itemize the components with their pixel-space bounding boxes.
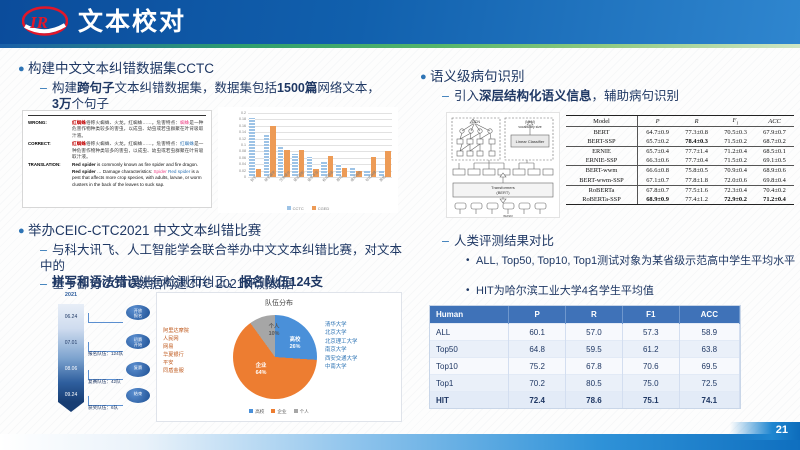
bullet-dot-icon: • (466, 283, 476, 298)
pie-legend-item: 个人 (294, 409, 309, 415)
cell-model: ERNIE-SSP (566, 156, 637, 166)
cell-f1: 57.3 (622, 324, 679, 341)
table-row: Top5064.859.561.263.8 (430, 341, 740, 358)
page-number-background (730, 422, 800, 440)
table-row: RoBERTa-SSP68.9±0.977.4±1.272.9±0.271.2±… (566, 195, 794, 205)
col-r: R (677, 116, 716, 127)
cell-r: 77.4±1.2 (677, 195, 716, 205)
cell-r: 77.7±0.4 (677, 156, 716, 166)
cell-acc: 58.9 (679, 324, 739, 341)
table-row: ALL60.157.057.358.9 (430, 324, 740, 341)
bar-group (349, 113, 362, 177)
svg-text:GCN: GCN (472, 120, 480, 124)
cell-p: 72.4 (509, 392, 566, 409)
table-row: BERT64.7±0.977.3±0.870.5±0.367.9±0.7 (566, 127, 794, 137)
col-f1: F1 (716, 116, 755, 127)
cell-f1: 72.3±0.4 (716, 185, 755, 195)
cell-f1: 72.0±0.6 (716, 175, 755, 185)
cell-model: BERT (566, 127, 637, 137)
table-row: BERT-wwm66.6±0.875.8±0.570.9±0.468.9±0.6 (566, 166, 794, 176)
col-acc: ACC (679, 306, 739, 324)
bar-chart-legend-item: CCTC (287, 206, 304, 211)
cell-acc: 68.7±0.2 (755, 137, 794, 147)
example-row-wrong: WRONG: 红蜘蛛俗称火蜘蛛、火龙。红蜘蛛……。危害特点：蜘蛛是一种危害作物种… (23, 120, 211, 141)
slide-root: IR 文本校对 ●构建中文文本纠错数据集CCTC –构建跨句子文本纠错数据集，数… (0, 0, 800, 450)
cell-acc: 68.9±0.6 (755, 166, 794, 176)
bar-cctc (264, 135, 269, 177)
pie-chart-title: 队伍分布 (157, 298, 401, 308)
dash-icon: – (40, 242, 52, 258)
svg-text:[MASK]: [MASK] (503, 214, 513, 217)
bar-chart-ytick: 0.18 (218, 117, 246, 121)
dash-icon: – (40, 276, 52, 292)
bar-group (278, 113, 291, 177)
cell-p: 70.2 (509, 375, 566, 392)
bullet-semantic-error-detection: ●语义级病句识别 (420, 68, 790, 86)
timeline-node-0: 开放报名 (126, 305, 150, 320)
timeline-node-2: 复赛 (126, 362, 150, 377)
page-title: 文本校对 (78, 6, 186, 38)
cell-p: 66.6±0.8 (637, 166, 677, 176)
cell-f1: 71.2±0.4 (716, 146, 755, 156)
col-f1: F1 (622, 306, 679, 324)
cell-p: 67.8±0.7 (637, 185, 677, 195)
cell-p: 68.9±0.9 (637, 195, 677, 205)
cell-r: 57.0 (566, 324, 623, 341)
cell-acc: 68.5±0.1 (755, 146, 794, 156)
cell-f1: 75.1 (622, 392, 679, 409)
table-row: Top1075.267.870.669.5 (430, 358, 740, 375)
cell-name: Top1 (430, 375, 509, 392)
timeline-year: 2021 (58, 292, 84, 298)
cell-acc: 69.1±0.5 (755, 156, 794, 166)
item-human-test-subjects: •ALL, Top50, Top10, Top1测试对象为某省级示范高中学生平均… (466, 253, 796, 269)
bar-chart-legend-item: CGED (312, 206, 330, 211)
bar-chart-bars (248, 113, 392, 177)
bar-cctc (249, 118, 254, 177)
cell-model: ERNIE (566, 146, 637, 156)
cell-r: 77.7±1.4 (677, 146, 716, 156)
cell-p: 67.1±0.7 (637, 175, 677, 185)
item-hit-students: •HIT为哈尔滨工业大学4名学生平均值 (466, 283, 796, 299)
cell-acc: 74.1 (679, 392, 739, 409)
svg-text:(MLM): (MLM) (525, 120, 535, 124)
subbullet-ctc2021-data: –基于部分CCTC数据构建CTC 2021评测数据 (40, 276, 405, 292)
bar-group (306, 113, 319, 177)
team-distribution-panel: 队伍分布 高校26% 企业64% 个人10% 高校企业个人 阿里达摩院人民网网易… (156, 292, 402, 422)
bar-chart-ytick: 0.06 (218, 156, 246, 160)
cell-name: Top50 (430, 341, 509, 358)
cell-acc: 70.4±0.2 (755, 185, 794, 195)
cell-r: 59.5 (566, 341, 623, 358)
example-box: WRONG: 红蜘蛛俗称火蜘蛛、火龙。红蜘蛛……。危害特点：蜘蛛是一种危害作物种… (22, 110, 212, 208)
col-p: P (637, 116, 677, 127)
table-row: BERT-wwm-SSP67.1±0.777.8±1.872.0±0.669.8… (566, 175, 794, 185)
cell-name: ALL (430, 324, 509, 341)
pie-slice-label-2: 个人10% (259, 324, 289, 338)
bar-group (263, 113, 276, 177)
bar-group (335, 113, 348, 177)
table-header-row: HumanPRF1ACC (430, 306, 740, 324)
cell-r: 75.8±0.5 (677, 166, 716, 176)
dash-icon: – (40, 80, 52, 96)
bar-group (292, 113, 305, 177)
cell-r: 77.8±1.8 (677, 175, 716, 185)
col-p: P (509, 306, 566, 324)
timeline-date-0: 06.24 (58, 314, 84, 320)
cell-f1: 71.5±0.2 (716, 156, 755, 166)
cell-model: RoBERTa-SSP (566, 195, 637, 205)
svg-text:Linear Classifier: Linear Classifier (516, 139, 545, 144)
cell-acc: 71.2±0.4 (755, 195, 794, 205)
cell-model: RoBERTa (566, 185, 637, 195)
cell-name: Top10 (430, 358, 509, 375)
cell-acc: 67.9±0.7 (755, 127, 794, 137)
competition-timeline: 2021 06.24 07.01 08.06 09.24 开放报名 初赛开始 复… (20, 292, 160, 418)
pie-legend-item: 企业 (271, 409, 286, 415)
col-acc: ACC (755, 116, 794, 127)
bar-chart-ytick: 0 (218, 175, 246, 179)
bar-group (364, 113, 377, 177)
cell-acc: 72.5 (679, 375, 739, 392)
table-row: Top170.280.575.072.5 (430, 375, 740, 392)
cell-acc: 69.5 (679, 358, 739, 375)
table-row: HIT72.478.675.174.1 (430, 392, 740, 409)
bar-chart-ytick: 0.1 (218, 143, 246, 147)
bar-chart-legend: CCTCCGED (218, 206, 398, 211)
cell-r: 67.8 (566, 358, 623, 375)
bullet-build-cctc: ●构建中文文本纠错数据集CCTC (18, 60, 398, 78)
cell-f1: 71.5±0.2 (716, 137, 755, 147)
bert-gcn-architecture-diagram: GCN (MLM) vocabulary size Linear Classif… (446, 112, 560, 218)
cell-acc: 63.8 (679, 341, 739, 358)
cell-model: BERT-SSP (566, 137, 637, 147)
hit-ir-lab-logo: IR (22, 6, 68, 38)
bar-chart-cctc-vs-cged: 00.020.040.060.080.10.120.140.160.180.2 … (218, 107, 398, 213)
bullet-dot-icon: ● (18, 223, 28, 240)
svg-text:vocabulary size: vocabulary size (518, 125, 541, 129)
table-row: BERT-SSP65.7±0.278.4±0.371.5±0.268.7±0.2 (566, 137, 794, 147)
bar-chart-plot: 00.020.040.060.080.10.120.140.160.180.2 (248, 113, 392, 177)
dash-icon: – (442, 88, 454, 104)
pie-slice-label-1: 企业64% (245, 363, 277, 377)
col-model: Model (566, 116, 637, 127)
dash-icon: – (442, 233, 454, 249)
cell-r: 78.6 (566, 392, 623, 409)
cell-f1: 70.9±0.4 (716, 166, 755, 176)
timeline-arrow-tip-icon (58, 402, 84, 412)
example-row-correct: CORRECT: 红蜘蛛俗称火蜘蛛、火龙。红蜘蛛……。危害特点：红蜘蛛是一种危害… (23, 141, 211, 162)
subbullet-deep-semantics: –引入深层结构化语义信息，辅助病句识别 (442, 88, 792, 104)
box-rule-top (28, 115, 206, 116)
cell-r: 78.4±0.3 (677, 137, 716, 147)
cell-p: 65.7±0.2 (637, 137, 677, 147)
pie-legend-item: 高校 (249, 409, 264, 415)
cell-model: BERT-wwm-SSP (566, 175, 637, 185)
timeline-date-1: 07.01 (58, 340, 84, 346)
cell-model: BERT-wwm (566, 166, 637, 176)
col-human: Human (430, 306, 509, 324)
bar-chart-ytick: 0.02 (218, 169, 246, 173)
bar-chart-xaxis: 别字缺字漏字冗余成分语法搭配语序不当标点错误用词成分残缺句式杂糅其他 (248, 179, 392, 199)
cell-p: 60.1 (509, 324, 566, 341)
bar-chart-ytick: 0.08 (218, 149, 246, 153)
cell-p: 66.3±0.6 (637, 156, 677, 166)
bar-chart-ytick: 0.14 (218, 130, 246, 134)
cell-r: 80.5 (566, 375, 623, 392)
bullet-ceic-ctc2021: ●举办CEIC-CTC2021 中文文本纠错比赛 (18, 222, 408, 240)
pie-chart-teams: 高校26% 企业64% 个人10% (233, 315, 317, 399)
slide-footer (0, 434, 800, 450)
header-underline (0, 44, 800, 48)
svg-text:(BERT): (BERT) (496, 190, 510, 195)
cell-f1: 61.2 (622, 341, 679, 358)
bullet-dot-icon: ● (18, 61, 28, 78)
timeline-note-2: 复赛队伍：42队 (88, 379, 121, 385)
subbullet-human-comparison: –人类评测结果对比 (442, 233, 792, 249)
company-list: 阿里达摩院人民网网易华夏银行平安同盾金服 (163, 327, 189, 375)
bar-chart-ytick: 0.16 (218, 124, 246, 128)
cell-f1: 70.6 (622, 358, 679, 375)
timeline-date-3: 09.24 (58, 392, 84, 398)
pie-slice-label-0: 高校26% (279, 337, 311, 351)
cell-p: 75.2 (509, 358, 566, 375)
col-r: R (566, 306, 623, 324)
timeline-note-3: 获奖队伍：6队 (88, 405, 118, 411)
cell-f1: 75.0 (622, 375, 679, 392)
cell-r: 77.5±1.6 (677, 185, 716, 195)
cell-acc: 69.8±0.4 (755, 175, 794, 185)
university-list: 清华大学北京大学北京理工大学南京大学西安交通大学中南大学 (325, 321, 357, 371)
bar-group (321, 113, 334, 177)
bar-chart-ytick: 0.04 (218, 162, 246, 166)
bar-chart-ytick: 0.2 (218, 111, 246, 115)
timeline-note-1: 报名队伍：124队 (88, 351, 123, 357)
page-number: 21 (776, 424, 788, 436)
bullet-dot-icon: • (466, 253, 476, 268)
bullet-dot-icon: ● (420, 69, 430, 86)
cell-f1: 72.9±0.2 (716, 195, 755, 205)
bar-chart-xtick: 其他 (378, 170, 401, 193)
cell-p: 64.7±0.9 (637, 127, 677, 137)
timeline-node-3: 结束 (126, 388, 150, 403)
timeline-date-2: 08.06 (58, 366, 84, 372)
cell-p: 65.7±0.4 (637, 146, 677, 156)
cell-f1: 70.5±0.3 (716, 127, 755, 137)
bar-group (249, 113, 262, 177)
model-results-table: ModelPRF1ACCBERT64.7±0.977.3±0.870.5±0.3… (566, 115, 794, 205)
table-row: ERNIE65.7±0.477.7±1.471.2±0.468.5±0.1 (566, 146, 794, 156)
example-row-translation: TRANSLATION: Red spider is commonly know… (23, 162, 211, 190)
table-row: ERNIE-SSP66.3±0.677.7±0.471.5±0.269.1±0.… (566, 156, 794, 166)
human-comparison-table: HumanPRF1ACCALL60.157.057.358.9Top5064.8… (430, 306, 740, 408)
bar-chart-ytick: 0.12 (218, 137, 246, 141)
bar-group (378, 113, 391, 177)
table-row: RoBERTa67.8±0.777.5±1.672.3±0.470.4±0.2 (566, 185, 794, 195)
cell-r: 77.3±0.8 (677, 127, 716, 137)
pie-chart-legend: 高校企业个人 (157, 409, 401, 415)
cell-p: 64.8 (509, 341, 566, 358)
timeline-node-1: 初赛开始 (126, 334, 150, 349)
cell-name: HIT (430, 392, 509, 409)
